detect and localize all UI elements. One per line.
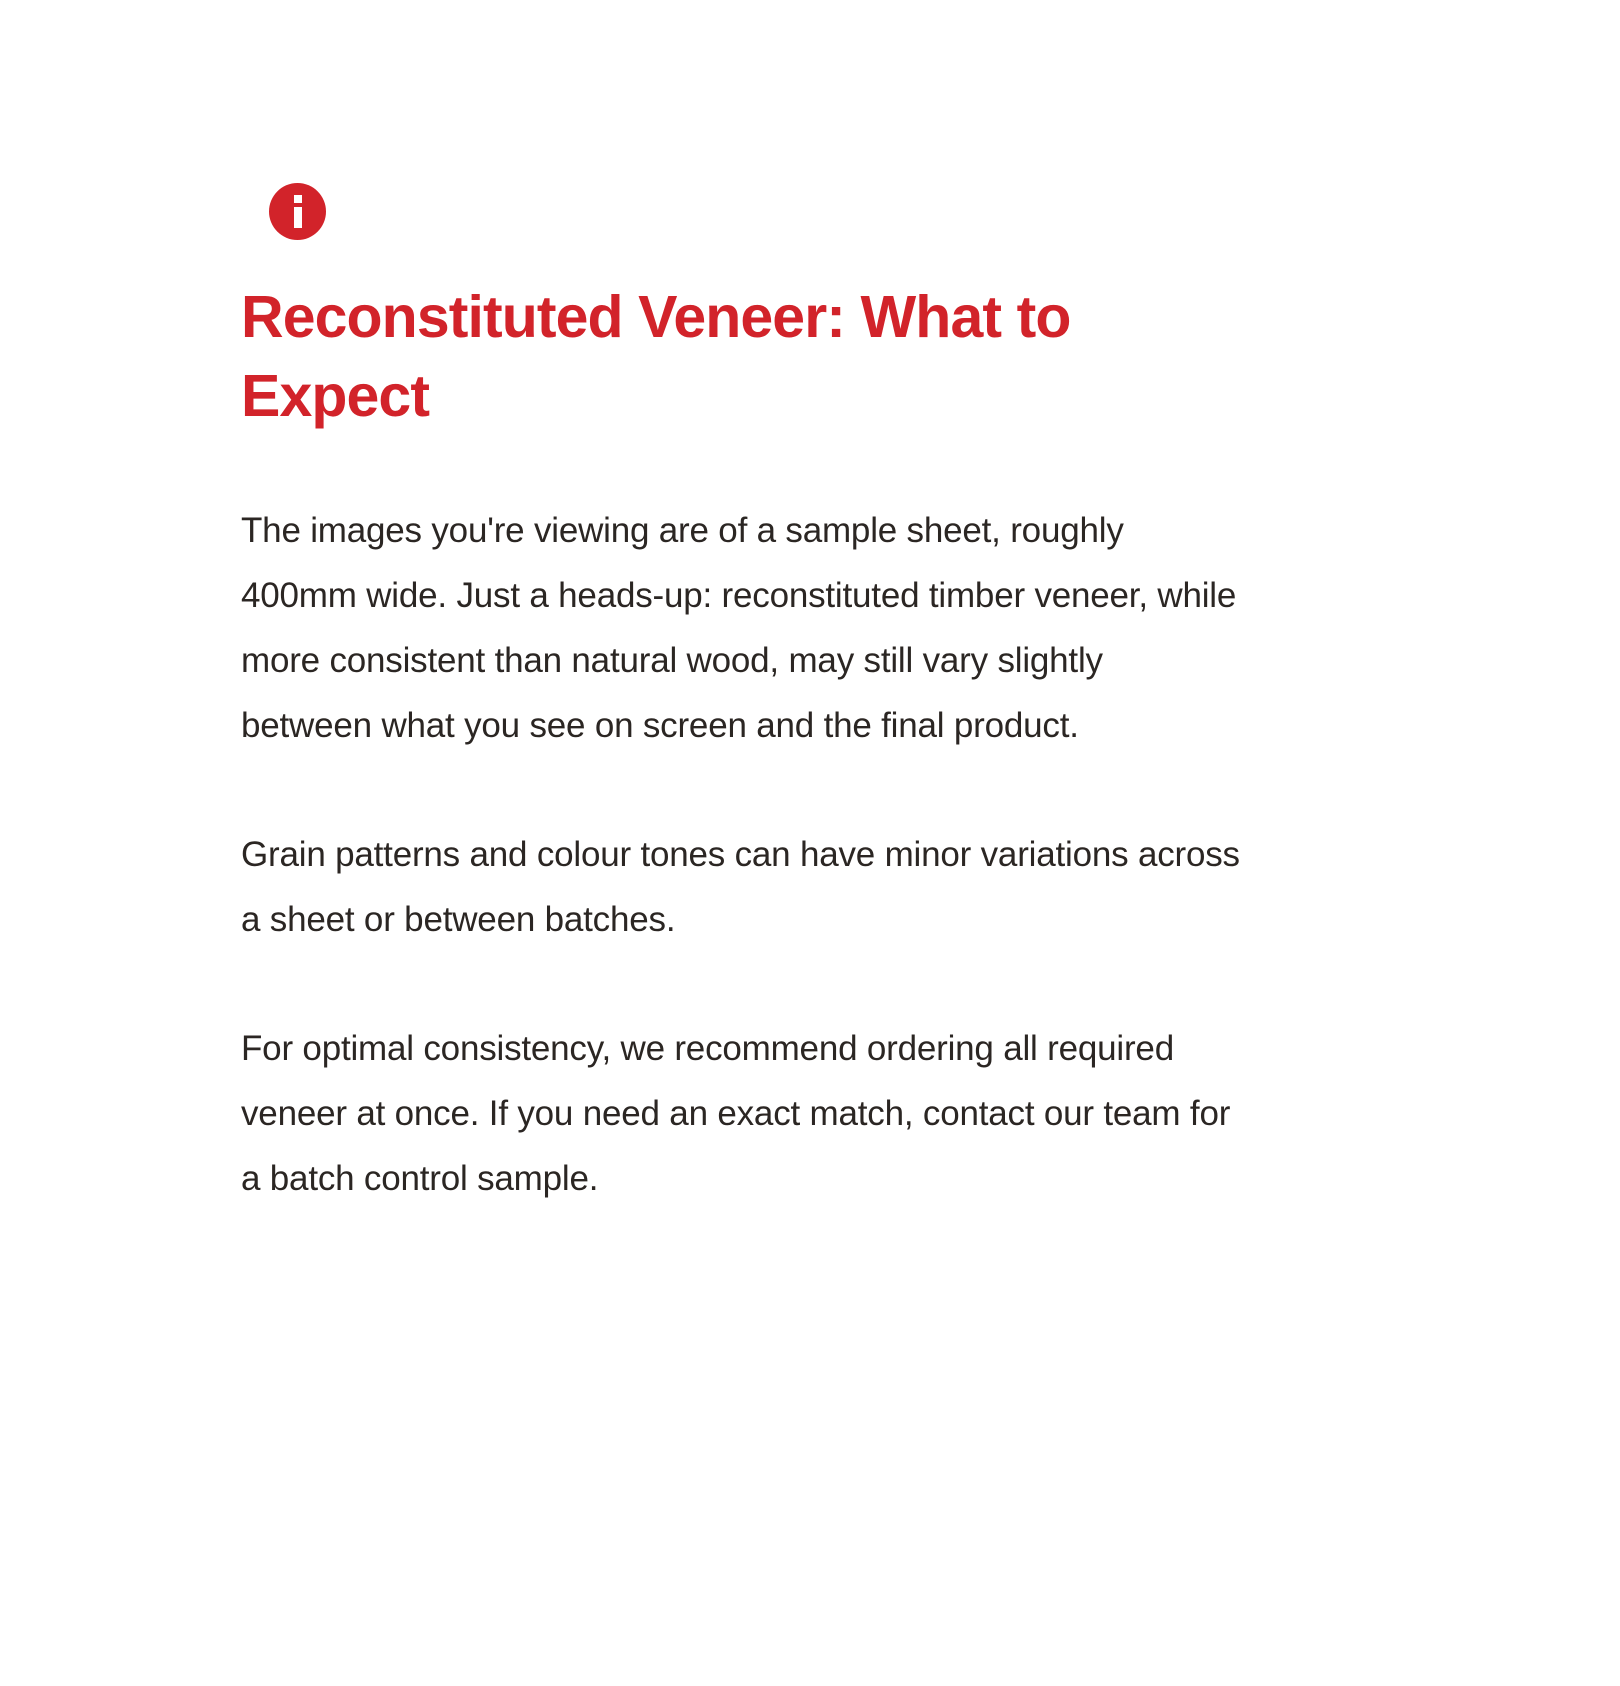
notice-body: The images you're viewing are of a sampl… [241, 498, 1241, 1211]
veneer-notice-panel: Reconstituted Veneer: What to Expect The… [241, 150, 1251, 1211]
notice-paragraph-2: Grain patterns and colour tones can have… [241, 822, 1241, 952]
info-icon [269, 183, 326, 240]
notice-paragraph-3: For optimal consistency, we recommend or… [241, 1016, 1241, 1211]
info-icon-dot [294, 195, 302, 203]
info-icon-stem [294, 207, 302, 228]
notice-paragraph-1: The images you're viewing are of a sampl… [241, 498, 1241, 758]
notice-page: Reconstituted Veneer: What to Expect The… [0, 0, 1620, 1686]
page-title: Reconstituted Veneer: What to Expect [241, 278, 1241, 436]
